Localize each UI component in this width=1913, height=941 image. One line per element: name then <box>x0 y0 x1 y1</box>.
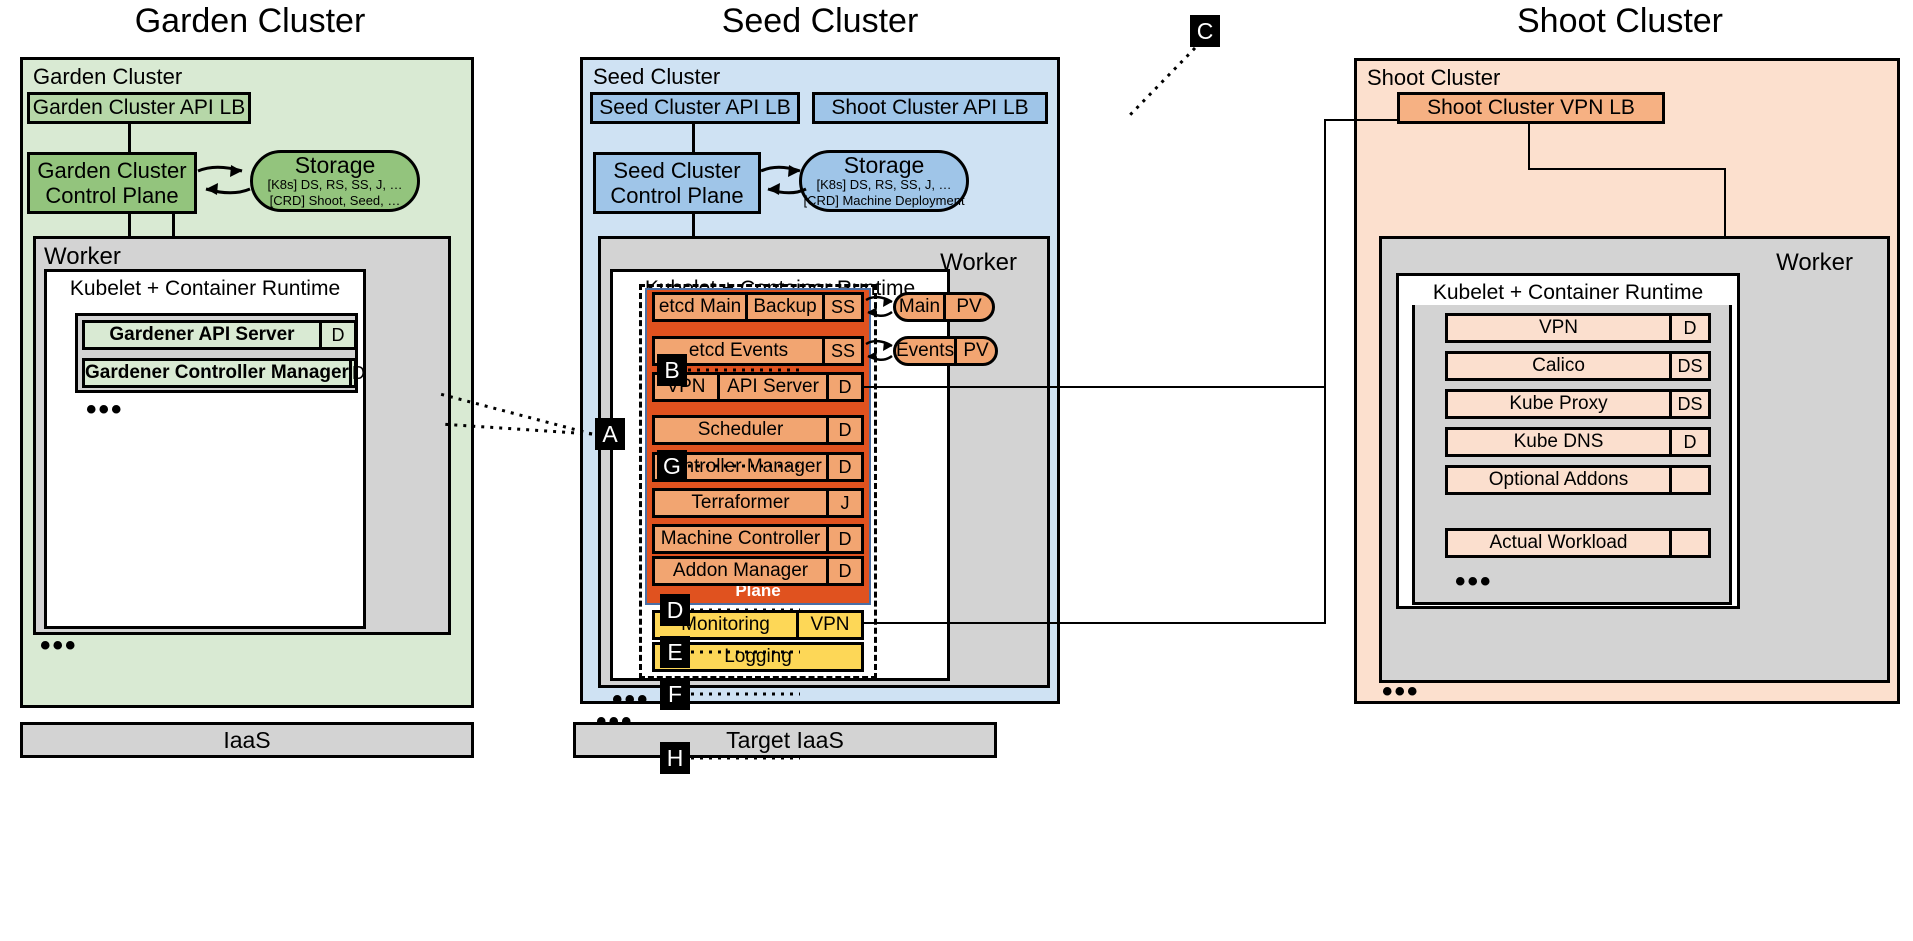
callout-leader-lines <box>0 0 1913 941</box>
